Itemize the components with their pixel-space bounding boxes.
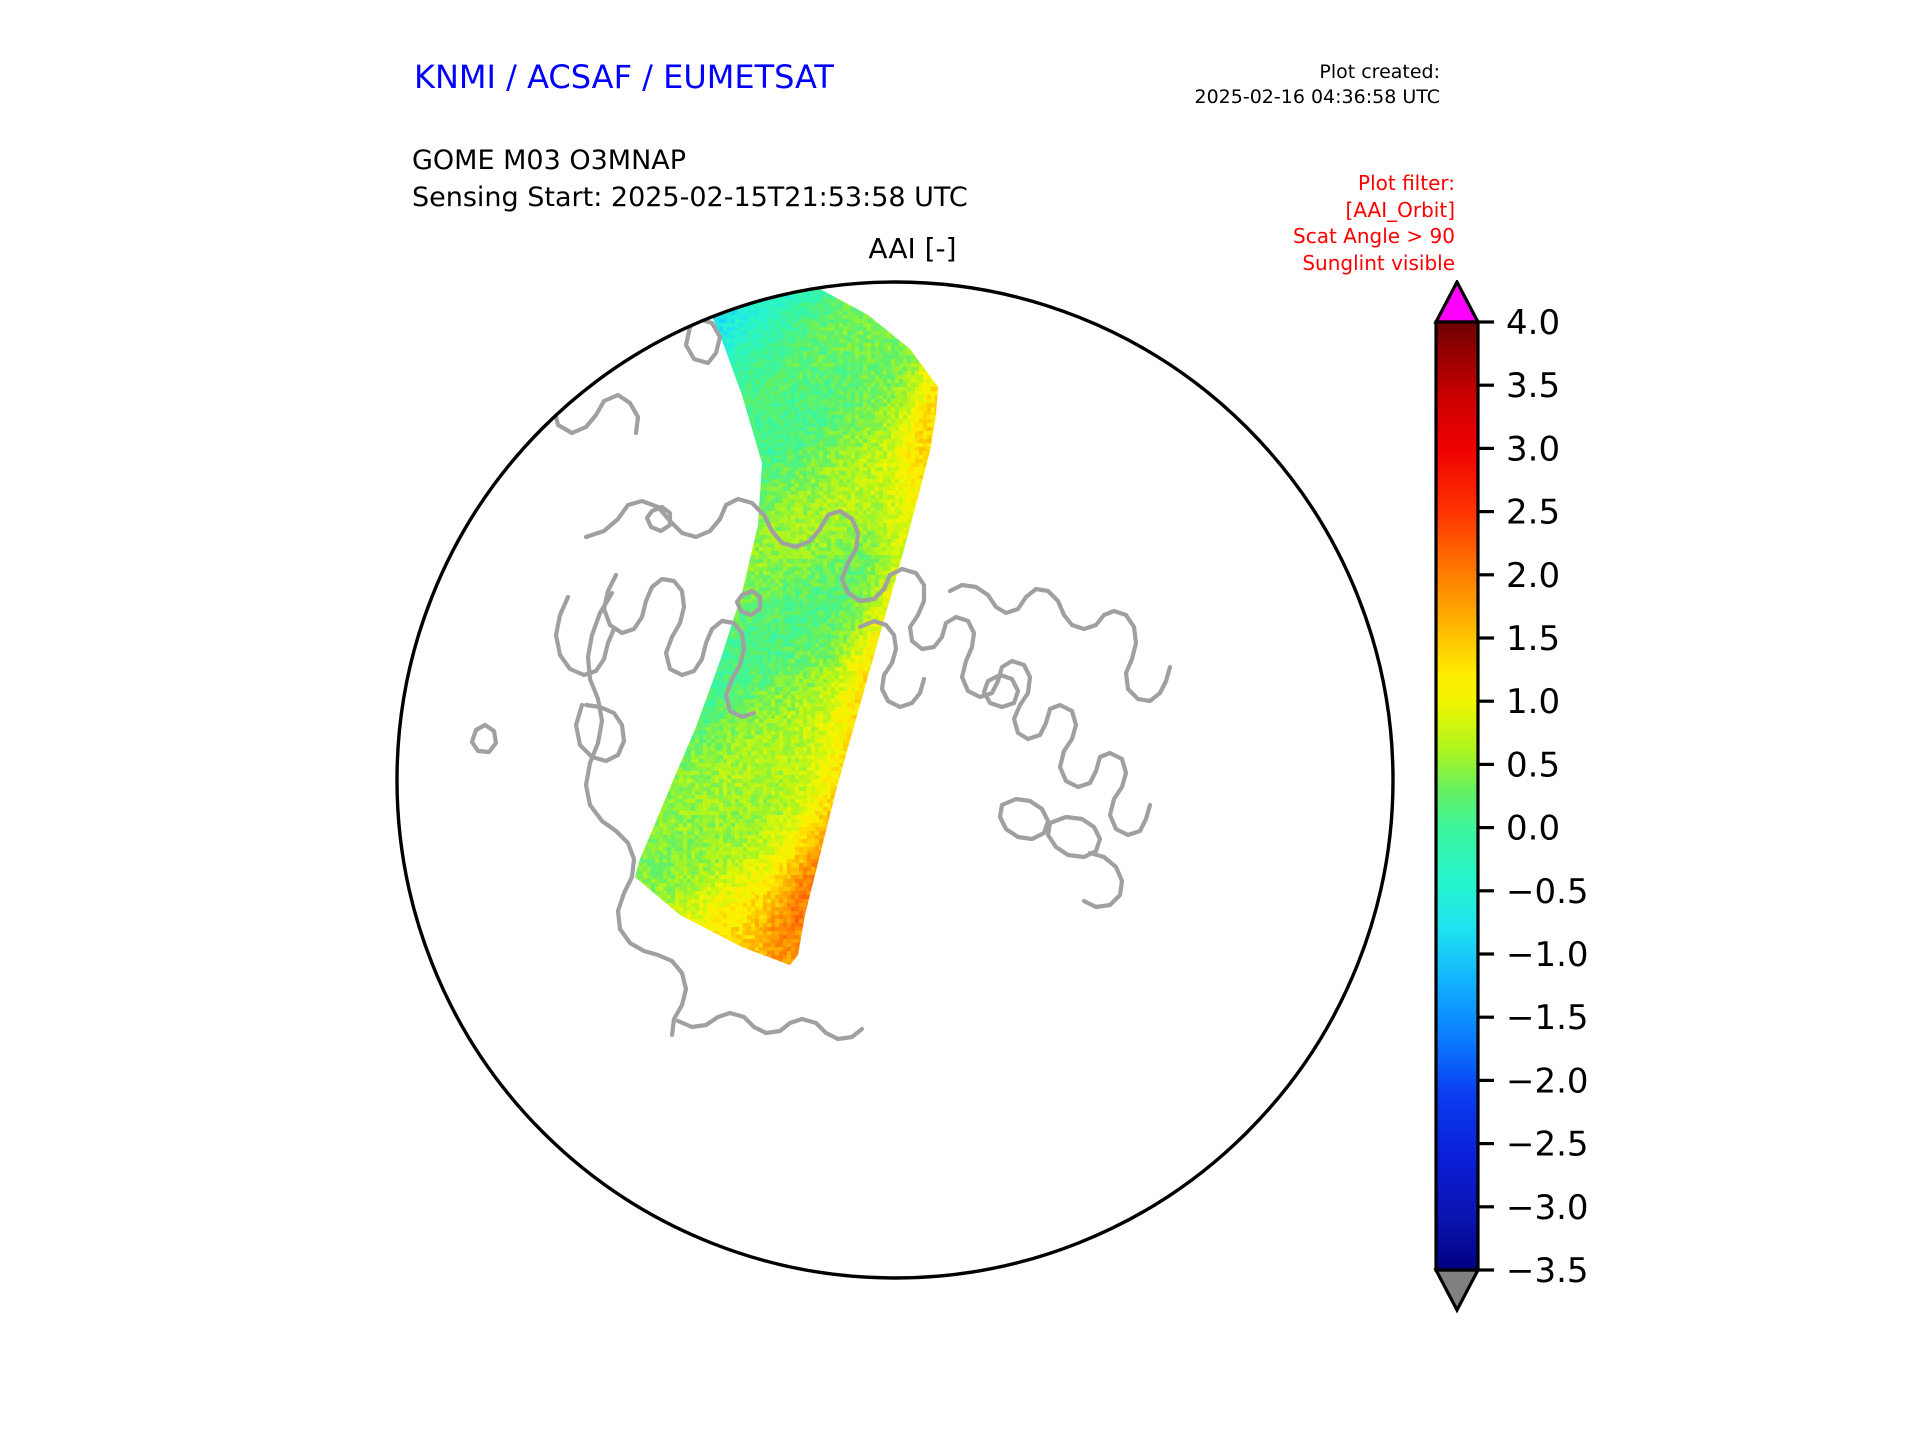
colorbar-area: 4.03.53.02.52.01.51.00.50.0−0.5−1.0−1.5−…	[1430, 280, 1790, 1315]
map-plot-area	[390, 275, 1400, 1285]
plot-created-block: Plot created: 2025-02-16 04:36:58 UTC	[1195, 60, 1441, 110]
colorbar-tick-label: −1.0	[1506, 935, 1589, 975]
colorbar-tick-label: −1.5	[1506, 998, 1589, 1038]
colorbar-tick-label: 3.5	[1506, 366, 1560, 406]
colorbar-over-arrow	[1436, 282, 1478, 322]
colorbar-under-arrow	[1436, 1270, 1478, 1310]
colorbar-tick-label: 4.0	[1506, 303, 1560, 343]
colorbar-tick-label: −3.0	[1506, 1188, 1589, 1228]
colorbar-tick-label: 2.0	[1506, 556, 1560, 596]
colorbar-tick-label: −0.5	[1506, 872, 1589, 912]
colorbar-tick-label: 0.0	[1506, 809, 1560, 849]
colorbar-tick-label: 3.0	[1506, 429, 1560, 469]
colorbar-tick-label: 2.5	[1506, 493, 1560, 533]
map-title: AAI [-]	[0, 232, 1920, 265]
plot-filter-line-1: [AAI_Orbit]	[1293, 197, 1455, 224]
colorbar-tick-label: 1.0	[1506, 682, 1560, 722]
colorbar-tick-label: −3.5	[1506, 1251, 1589, 1291]
organisations-title: KNMI / ACSAF / EUMETSAT	[414, 58, 834, 96]
instrument-line: GOME M03 O3MNAP	[412, 142, 968, 179]
map-title-text: AAI [-]	[868, 232, 956, 265]
colorbar-tick-label: −2.0	[1506, 1061, 1589, 1101]
sensing-start-line: Sensing Start: 2025-02-15T21:53:58 UTC	[412, 179, 968, 216]
plot-created-timestamp: 2025-02-16 04:36:58 UTC	[1195, 85, 1441, 110]
colorbar-tick-label: −2.5	[1506, 1125, 1589, 1165]
plot-created-label: Plot created:	[1195, 60, 1441, 85]
colorbar: 4.03.53.02.52.01.51.00.50.0−0.5−1.0−1.5−…	[1436, 282, 1589, 1310]
colorbar-tick-label: 0.5	[1506, 745, 1560, 785]
colorbar-tick-label: 1.5	[1506, 619, 1560, 659]
colorbar-gradient	[1436, 322, 1478, 1270]
plot-filter-title: Plot filter:	[1293, 170, 1455, 197]
dataset-info-block: GOME M03 O3MNAP Sensing Start: 2025-02-1…	[412, 142, 968, 217]
